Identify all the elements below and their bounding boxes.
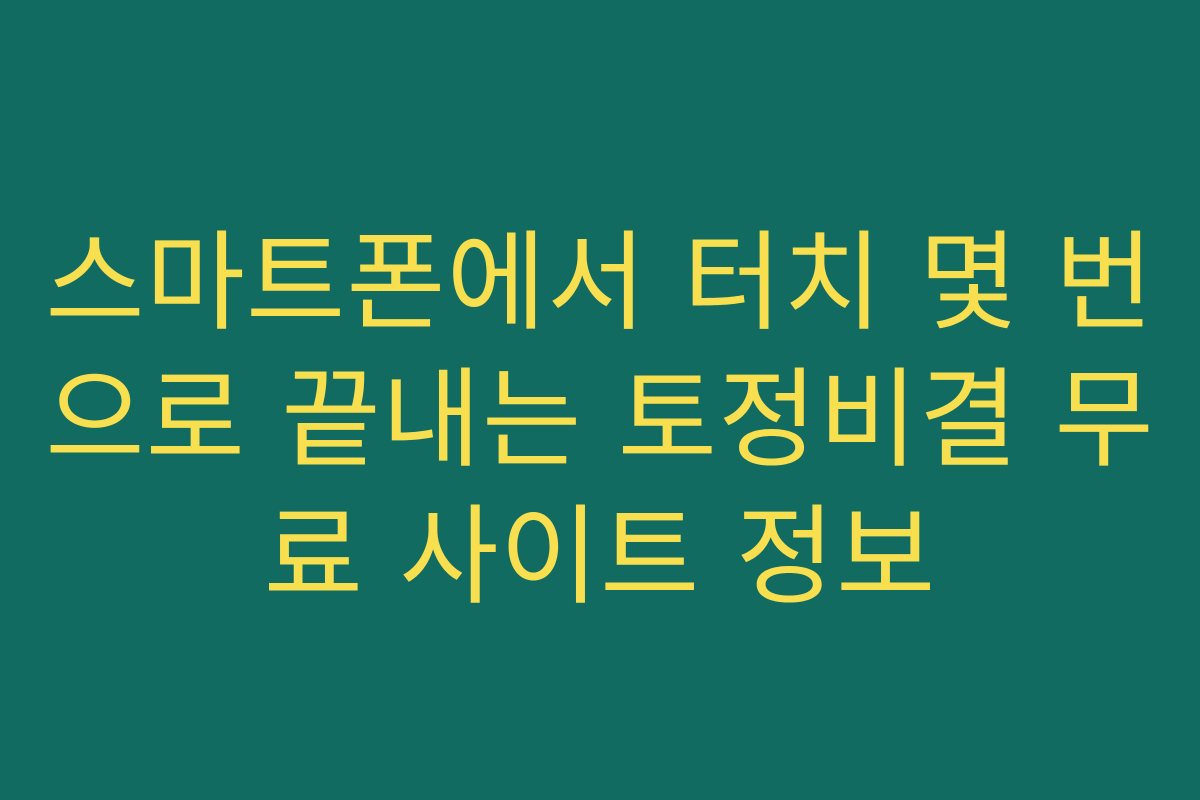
- thumbnail-canvas: 스마트폰에서 터치 몇 번 으로 끝내는 토정비결 무 료 사이트 정보: [0, 0, 1200, 800]
- title-line-2: 으로 끝내는 토정비결 무: [0, 352, 1200, 489]
- title-block: 스마트폰에서 터치 몇 번 으로 끝내는 토정비결 무 료 사이트 정보: [0, 0, 1200, 626]
- title-line-3: 료 사이트 정보: [0, 489, 1200, 626]
- title-line-1: 스마트폰에서 터치 몇 번: [0, 215, 1200, 352]
